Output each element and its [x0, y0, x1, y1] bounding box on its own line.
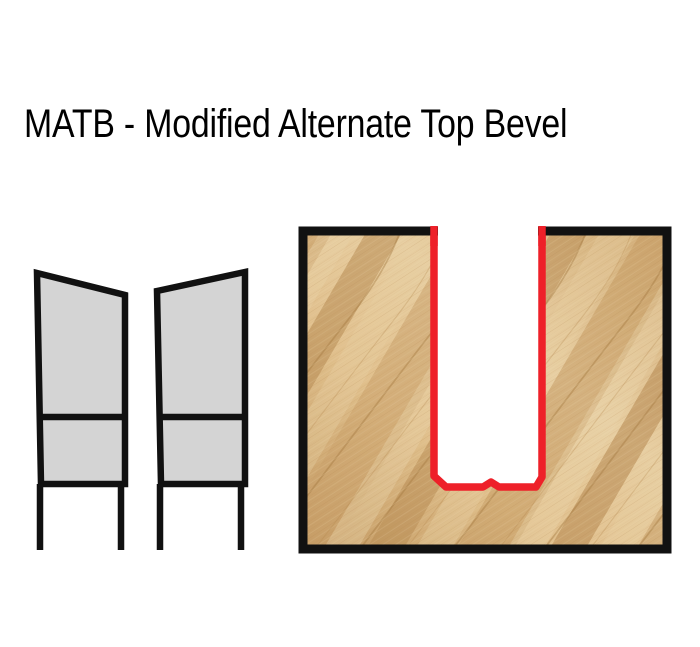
tooth-left — [37, 273, 125, 550]
tooth-left-body — [37, 273, 125, 484]
tooth-right — [157, 272, 245, 550]
kerf-void — [434, 231, 542, 487]
figure-root: MATB - Modified Alternate Top Bevel — [0, 0, 700, 647]
kerf-top-opening — [438, 224, 538, 237]
saw-tooth-profile-pair — [0, 0, 290, 647]
tooth-right-body — [157, 272, 245, 484]
wood-block-kerf-cross-section — [290, 200, 690, 580]
